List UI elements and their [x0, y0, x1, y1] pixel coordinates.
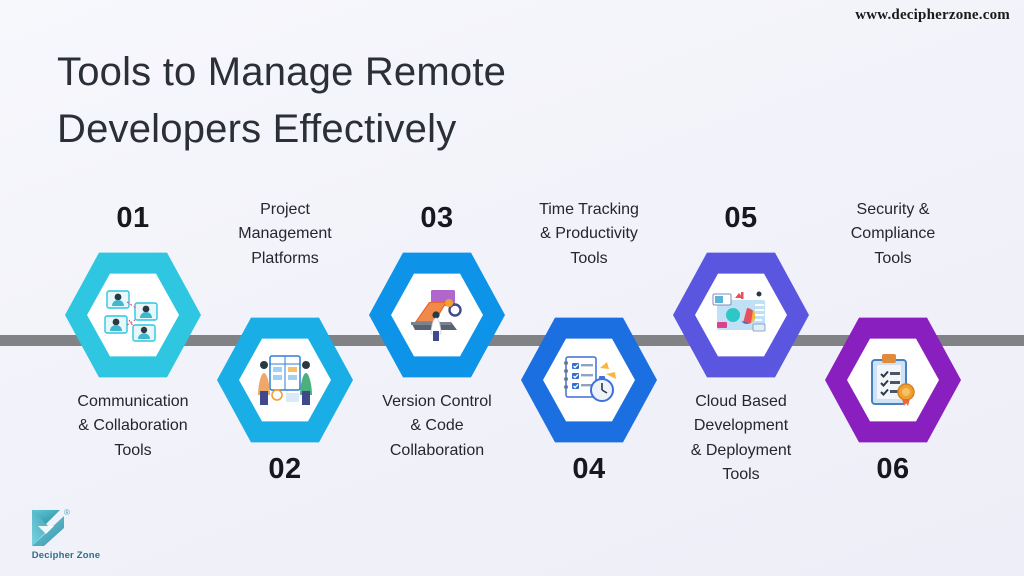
step-number-04: 04	[572, 453, 605, 486]
step-06[interactable]: Security & Compliance Tools	[817, 190, 969, 520]
step-hexagon-04[interactable]	[521, 315, 657, 445]
step-hexagon-03[interactable]	[369, 250, 505, 380]
step-number-02: 02	[268, 453, 301, 486]
brand-name: Decipher Zone	[12, 550, 120, 561]
site-url: www.decipherzone.com	[855, 7, 1010, 24]
step-label-05: Cloud Based Development & Deployment Too…	[651, 390, 831, 487]
step-label-02: Project Management Platforms	[195, 198, 375, 271]
step-03[interactable]: 03 Version Control & Code Collaborati	[361, 190, 513, 520]
step-number-03: 03	[420, 202, 453, 235]
step-02[interactable]: Project Management Platforms	[209, 190, 361, 520]
steps-container: 01 C	[0, 190, 1024, 520]
step-label-06: Security & Compliance Tools	[803, 198, 983, 271]
step-label-03: Version Control & Code Collaboration	[347, 390, 527, 463]
step-label-01: Communication & Collaboration Tools	[43, 390, 223, 463]
step-number-05: 05	[724, 202, 757, 235]
step-label-04: Time Tracking & Productivity Tools	[499, 198, 679, 271]
step-hexagon-01[interactable]	[65, 250, 201, 380]
step-01[interactable]: 01 C	[57, 190, 209, 520]
step-number-06: 06	[876, 453, 909, 486]
step-05[interactable]: 05	[665, 190, 817, 520]
step-04[interactable]: Time Tracking & Productivity Tools	[513, 190, 665, 520]
page-title-line-1: Tools to Manage Remote	[57, 44, 717, 101]
step-number-01: 01	[116, 202, 149, 235]
step-hexagon-02[interactable]	[217, 315, 353, 445]
page-title-line-2: Developers Effectively	[57, 101, 717, 158]
step-hexagon-05[interactable]	[673, 250, 809, 380]
step-hexagon-06[interactable]	[825, 315, 961, 445]
page-title: Tools to Manage Remote Developers Effect…	[57, 44, 717, 158]
